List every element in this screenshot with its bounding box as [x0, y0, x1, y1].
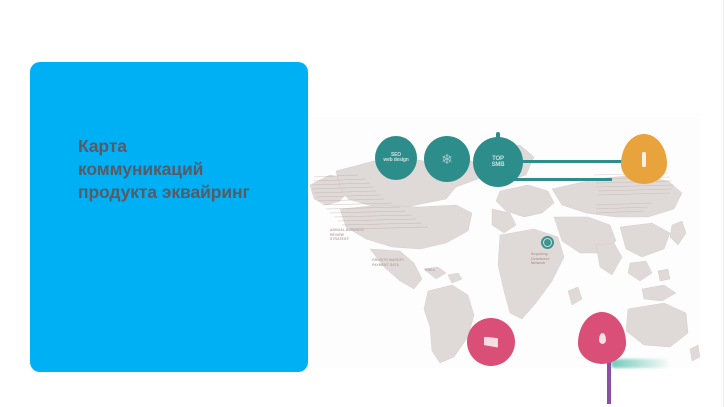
map-marker-seo-label: SEO web design	[383, 152, 408, 163]
map-badge-icon	[541, 236, 554, 249]
snowflake-icon: ❄	[441, 152, 453, 166]
map-marker-top-smb-label: TOP SMB	[492, 155, 505, 168]
flag-icon	[484, 337, 498, 348]
presentation-slide: ANNUAL BUSINESS REVIEW STRATEGY GROWTH M…	[0, 0, 724, 407]
bar-icon	[642, 152, 646, 167]
map-marker-seo[interactable]: SEO web design	[375, 136, 417, 180]
page-title: Карта коммуникаций продукта эквайринг	[78, 135, 296, 204]
purple-drop-line	[607, 362, 611, 404]
marker-stem	[496, 132, 500, 139]
map-label-asia: Acquiring Commerce Network	[531, 252, 549, 266]
map-marker-snowflake[interactable]: ❄	[424, 136, 470, 182]
drop-icon	[599, 333, 606, 344]
connector-line-top	[508, 160, 632, 163]
teal-fade-accent	[611, 359, 671, 368]
map-label-north-america: ANNUAL BUSINESS REVIEW STRATEGY	[330, 228, 364, 242]
map-badge-ring	[543, 238, 552, 247]
map-marker-pink-circle[interactable]	[467, 318, 515, 366]
title-panel: Карта коммуникаций продукта эквайринг	[30, 62, 308, 372]
map-marker-top-smb[interactable]: TOP SMB	[473, 137, 523, 187]
map-label-europe: EMEA	[425, 268, 435, 273]
map-label-usa: GROWTH MARKET PAYMENT DATA	[372, 258, 404, 267]
